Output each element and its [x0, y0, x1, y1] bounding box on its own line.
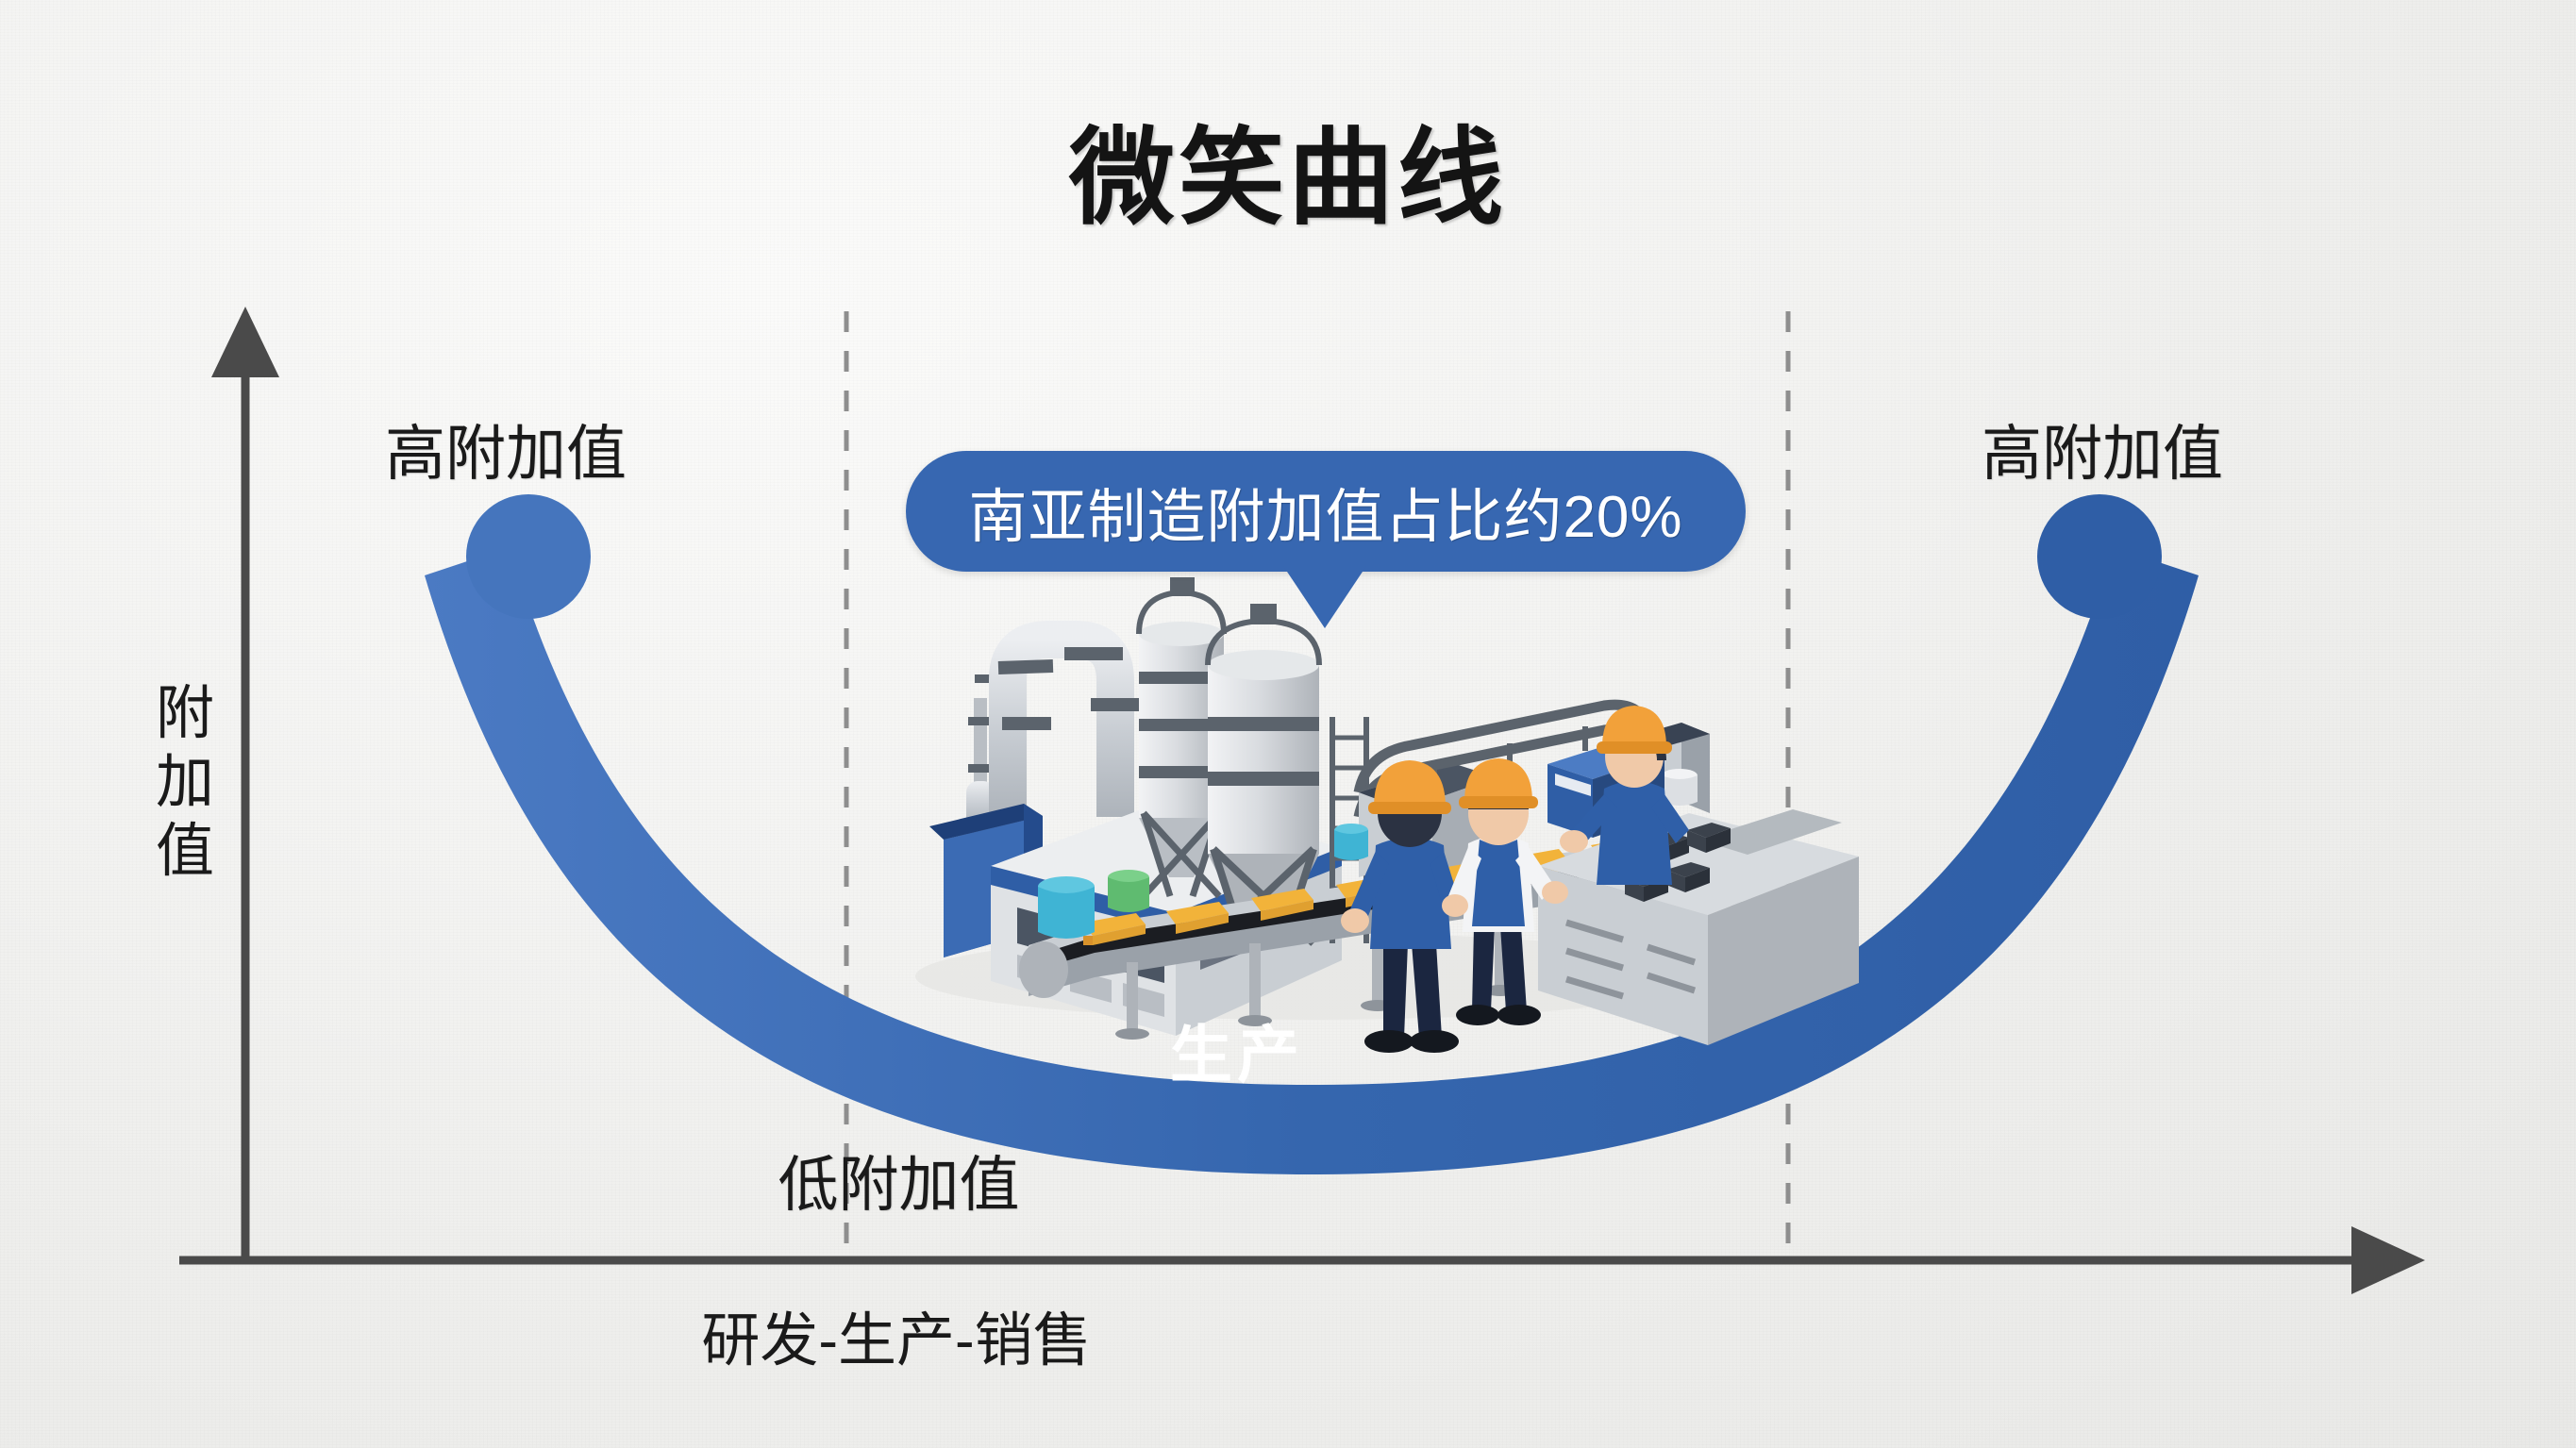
callout-text: 南亚制造附加值占比约20%: [968, 469, 1682, 554]
curve-endpoint-left: [466, 494, 591, 619]
slide-canvas: 微笑曲线 附加值 研发-生产-销售 高附加值 高附加值 低附加值 生产 南亚制造…: [0, 0, 2576, 1448]
up-arrow-icon: [211, 307, 279, 377]
curve-endpoint-right: [2037, 494, 2162, 619]
x-axis-label: 研发-生产-销售: [0, 1292, 1793, 1377]
factory-production-illustration: [915, 577, 1859, 1053]
y-axis-label: 附加值: [142, 679, 228, 886]
conveyor-cylinder-blue: [1038, 876, 1095, 939]
label-high-value-right: 高附加值: [1982, 406, 2223, 492]
conveyor-cylinder-green: [1108, 870, 1149, 912]
label-production: 生产: [1170, 1005, 1304, 1095]
label-high-value-left: 高附加值: [385, 406, 627, 492]
right-arrow-icon: [2351, 1226, 2425, 1294]
x-axis: [179, 1226, 2425, 1294]
label-low-value: 低附加值: [0, 1137, 1798, 1223]
callout-bubble: 南亚制造附加值占比约20%: [906, 451, 1746, 572]
page-title: 微笑曲线: [0, 92, 2576, 245]
callout-tail-icon: [1283, 566, 1366, 628]
conveyor-cylinder-cyan-2: [1334, 824, 1368, 860]
